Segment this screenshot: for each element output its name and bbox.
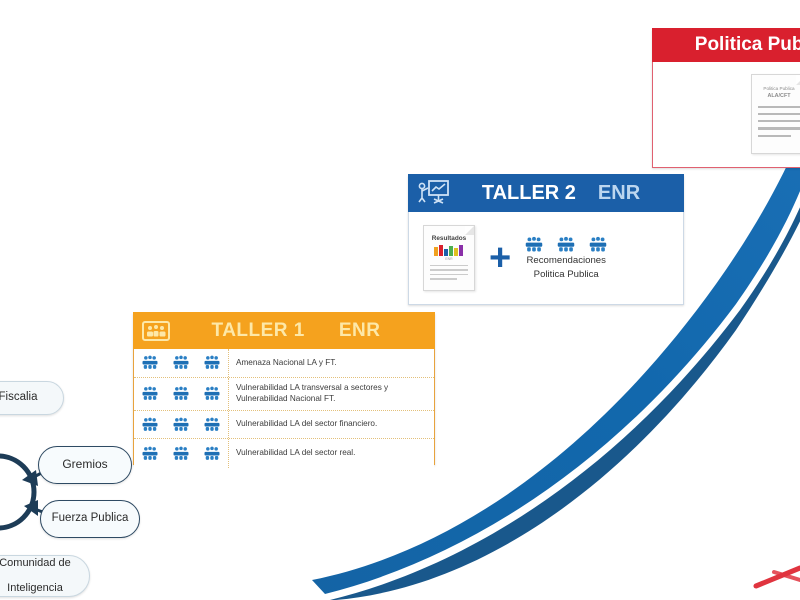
group-meeting-icon <box>587 236 609 253</box>
bubble-fiscalia[interactable]: Fiscalia <box>0 381 64 415</box>
recommendation-line-2: Politica Publica <box>534 269 599 281</box>
taller-2-card[interactable]: TALLER 2 ENR Resultados ENR <box>408 175 684 305</box>
politica-publica-title: Politica Publica <box>658 34 800 56</box>
politica-publica-header: Politica Publica <box>652 28 800 62</box>
taller-1-badge: ENR <box>339 320 381 342</box>
table-row[interactable]: Amenaza Nacional LA y FT. <box>134 349 434 378</box>
doc-title: Resultados <box>424 235 474 242</box>
doc-logo-label: ENR <box>424 257 474 261</box>
politica-publica-body: Politica Publica ALA/CFT <box>653 62 800 166</box>
taller-1-card[interactable]: TALLER 1 ENR Amenaza Nacional LA y FT. <box>133 313 435 465</box>
taller-1-title: TALLER 1 <box>212 320 305 342</box>
row-icons <box>134 378 229 410</box>
bubble-comunidad-label: Comunidad de Inteligencia <box>0 557 71 595</box>
bubble-fuerza-publica[interactable]: Fuerza Publica <box>40 500 140 538</box>
taller-2-body: Resultados ENR + <box>409 212 683 304</box>
meeting-board-icon <box>141 319 171 343</box>
table-row[interactable]: Vulnerabilidad LA del sector real. <box>134 439 434 468</box>
diagram-canvas: TALLER 1 ENR Amenaza Nacional LA y FT. <box>0 0 800 600</box>
recommendation-icons <box>523 236 609 253</box>
taller-2-title-group: TALLER 2 ENR <box>450 182 676 205</box>
doc-fold <box>465 226 474 235</box>
doc-lines <box>430 265 468 280</box>
row-label: Vulnerabilidad LA del sector real. <box>229 448 434 459</box>
presenter-whiteboard-icon <box>416 179 450 207</box>
group-meeting-icon <box>202 355 222 370</box>
row-label: Vulnerabilidad LA transversal a sectores… <box>229 383 434 404</box>
enr-logo-icon <box>434 245 464 256</box>
politica-publica-card[interactable]: Politica Publica Politica Publica ALA/CF… <box>652 29 800 168</box>
bubble-comunidad-inteligencia[interactable]: Comunidad de Inteligencia <box>0 555 90 597</box>
bubble-fiscalia-label: Fiscalia <box>0 391 37 404</box>
group-meeting-icon <box>140 355 160 370</box>
row-icons <box>134 439 229 468</box>
politica-document-icon[interactable]: Politica Publica ALA/CFT <box>751 74 800 154</box>
bubble-gremios-label: Gremios <box>62 458 107 472</box>
plus-operator: + <box>489 239 511 277</box>
row-icons <box>134 349 229 377</box>
group-meeting-icon <box>202 446 222 461</box>
recommendation-line-1: Recomendaciones <box>526 255 605 267</box>
group-meeting-icon <box>140 386 160 401</box>
row-label: Amenaza Nacional LA y FT. <box>229 358 434 369</box>
recommendation-block: Recomendaciones Politica Publica <box>523 236 609 281</box>
taller-1-body: Amenaza Nacional LA y FT. Vulnerabilidad… <box>134 349 434 468</box>
politica-doc-line-1: Politica Publica <box>752 86 800 93</box>
group-meeting-icon <box>555 236 577 253</box>
group-meeting-icon <box>171 417 191 432</box>
bubble-fuerza-publica-label: Fuerza Publica <box>52 512 129 525</box>
resultados-document-icon[interactable]: Resultados ENR <box>423 225 475 291</box>
taller-2-header: TALLER 2 ENR <box>408 174 684 212</box>
group-meeting-icon <box>171 446 191 461</box>
group-meeting-icon <box>523 236 545 253</box>
table-row[interactable]: Vulnerabilidad LA del sector financiero. <box>134 411 434 440</box>
taller-1-header: TALLER 1 ENR <box>133 312 435 349</box>
row-label: Vulnerabilidad LA del sector financiero. <box>229 419 434 430</box>
politica-doc-lines <box>758 106 800 137</box>
group-meeting-icon <box>140 446 160 461</box>
bubble-comunidad-line-1: Comunidad de <box>0 557 71 570</box>
group-meeting-icon <box>140 417 160 432</box>
bubble-gremios[interactable]: Gremios <box>38 446 132 484</box>
taller-2-badge: ENR <box>598 182 640 205</box>
group-meeting-icon <box>202 386 222 401</box>
table-row[interactable]: Vulnerabilidad LA transversal a sectores… <box>134 378 434 411</box>
politica-doc-line-2: ALA/CFT <box>752 93 800 99</box>
group-meeting-icon <box>171 355 191 370</box>
group-meeting-icon <box>171 386 191 401</box>
row-icons <box>134 411 229 439</box>
taller-1-title-group: TALLER 1 ENR <box>171 320 427 342</box>
doc-fold <box>796 75 800 85</box>
bubble-comunidad-line-2: Inteligencia <box>0 582 71 595</box>
group-meeting-icon <box>202 417 222 432</box>
taller-2-title: TALLER 2 <box>482 182 576 205</box>
